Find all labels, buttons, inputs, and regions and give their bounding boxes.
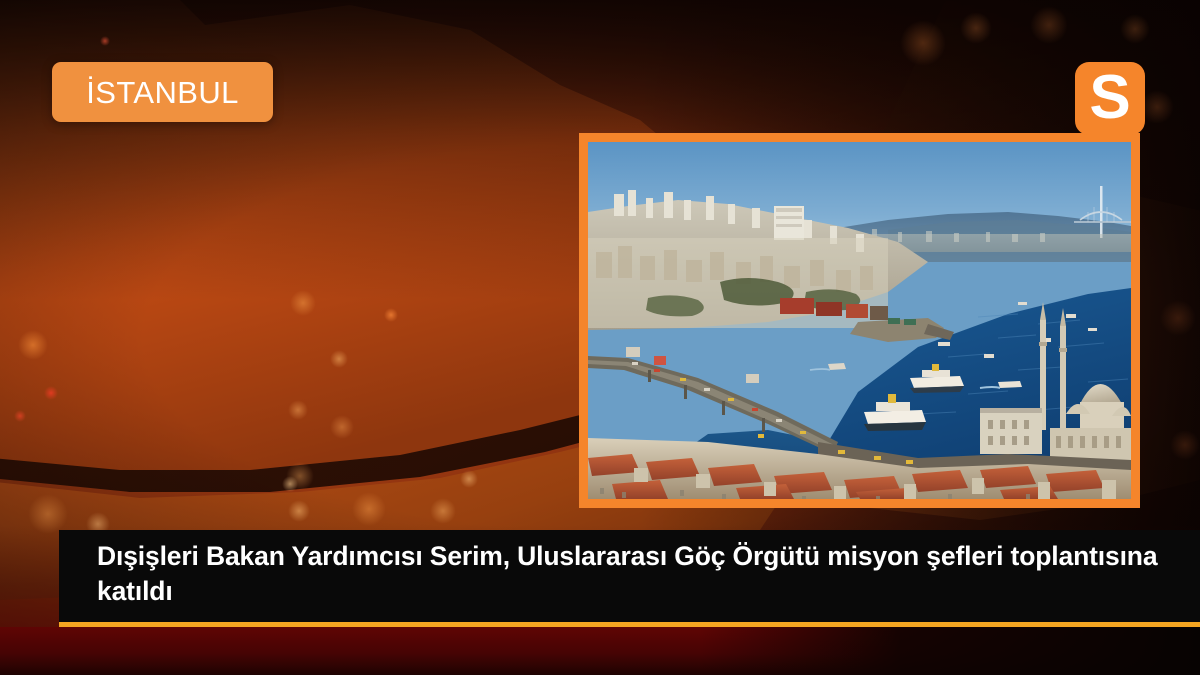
city-badge: İSTANBUL	[52, 62, 273, 122]
brand-s-logo[interactable]: S	[1075, 62, 1145, 135]
footer-fill-right	[700, 627, 1200, 675]
news-photo-frame	[579, 133, 1140, 508]
news-photo	[588, 142, 1131, 499]
caption-line-1: Dışişleri Bakan Yardımcısı Serim, Ulusla…	[97, 541, 820, 571]
boat	[810, 363, 846, 370]
istanbul-cityscape-illustration	[588, 142, 1131, 499]
caption-text: Dışişleri Bakan Yardımcısı Serim, Ulusla…	[59, 539, 1200, 612]
news-card-stage: İSTANBUL S	[0, 0, 1200, 675]
brand-logo-letter: S	[1089, 67, 1130, 129]
city-badge-label: İSTANBUL	[86, 77, 239, 108]
caption-bar: Dışişleri Bakan Yardımcısı Serim, Ulusla…	[59, 530, 1200, 627]
